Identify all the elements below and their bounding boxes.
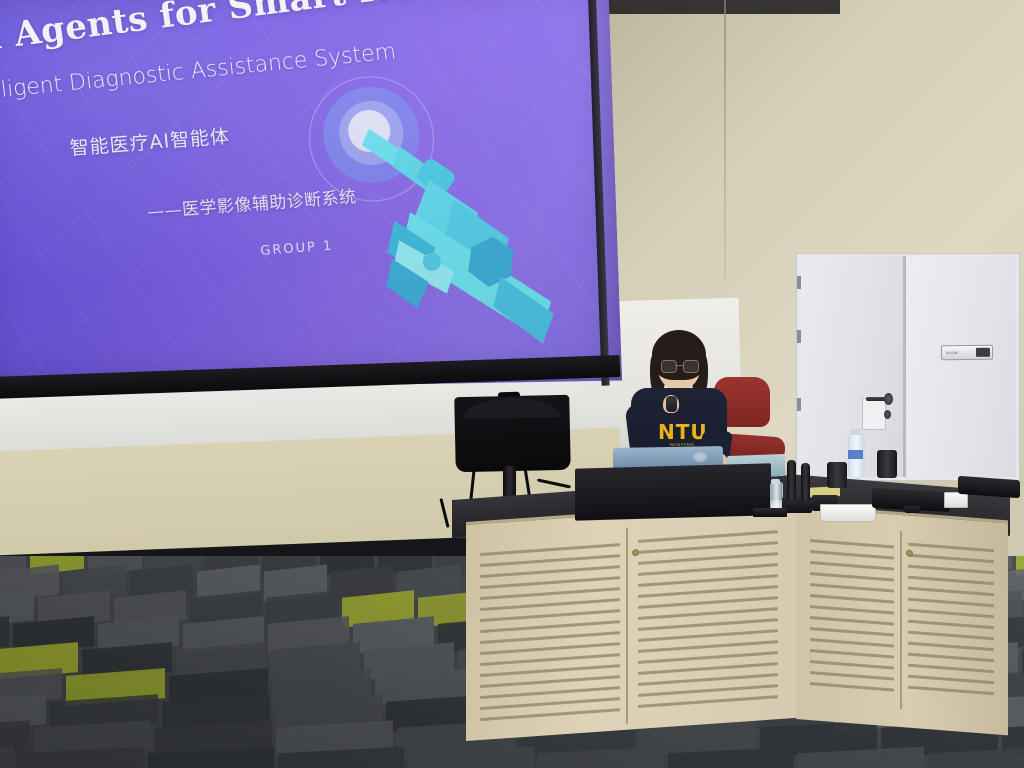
presentation-slide: AI Agents for Smart Healthcare: Intellig…	[0, 0, 622, 392]
louver-slat	[480, 686, 620, 699]
louver-slat	[908, 620, 994, 630]
louver-slat	[638, 640, 778, 653]
louver-slat	[480, 620, 620, 633]
louver-slat	[480, 576, 620, 589]
cabinet-lock-right-icon[interactable]	[906, 549, 913, 557]
white-equipment-box-2	[944, 492, 968, 508]
av-small-module	[904, 506, 920, 513]
louver-slat	[908, 554, 994, 564]
louver-slat	[810, 671, 894, 680]
wall-corner	[724, 0, 726, 280]
projection-screen: AI Agents for Smart Healthcare: Intellig…	[0, 0, 622, 392]
louver-slat	[638, 596, 778, 609]
louver-slat	[480, 554, 620, 567]
speaker-left	[827, 462, 847, 488]
presenter-glasses-icon	[661, 360, 697, 371]
slide-chinese-title: 智能医疗AI智能体	[68, 122, 231, 161]
louver-slat	[638, 552, 778, 565]
door-handle-rose-icon	[884, 393, 893, 405]
louver-slat	[638, 585, 778, 598]
door-nameplate: ROOM	[941, 345, 993, 361]
louver-slat	[810, 627, 894, 636]
louver-slat	[810, 605, 894, 614]
white-equipment-box-1	[820, 504, 876, 522]
louver-slat	[480, 697, 620, 710]
shirt-logo-text: NTU	[658, 420, 706, 444]
door-paper-notice	[862, 398, 886, 430]
louver-slat	[638, 695, 778, 708]
louver-slat	[908, 675, 994, 685]
podium-front-shield	[575, 463, 771, 520]
handheld-microphone-icon[interactable]	[666, 396, 677, 412]
door-sign-text: ROOM	[942, 350, 976, 354]
louver-slat	[810, 550, 894, 559]
louver-slat	[638, 563, 778, 576]
louver-slat	[638, 651, 778, 664]
door-sign-chip-icon	[976, 348, 990, 357]
door-hinge-mid-icon	[797, 330, 801, 343]
projection-screen-surface: AI Agents for Smart Healthcare: Intellig…	[0, 0, 622, 392]
louver-slat	[908, 576, 994, 586]
door-hinge-top-icon	[797, 276, 801, 289]
louver-panel-right-a	[810, 534, 894, 702]
louver-slat	[908, 642, 994, 652]
cable-tray	[753, 508, 787, 517]
louver-slat	[810, 583, 894, 592]
door-gap	[903, 256, 906, 477]
louver-slat	[810, 660, 894, 669]
louver-slat	[638, 530, 778, 543]
louver-panel-right-b	[908, 538, 994, 707]
louver-slat	[480, 631, 620, 644]
louver-slat	[810, 638, 894, 647]
louver-slat	[480, 675, 620, 688]
louver-slat	[810, 539, 894, 548]
louver-slat	[480, 642, 620, 655]
louver-slat	[810, 594, 894, 603]
louver-slat	[638, 618, 778, 631]
louver-slat	[810, 616, 894, 625]
louver-slat	[908, 631, 994, 641]
louver-slat	[638, 684, 778, 697]
louver-slat	[480, 609, 620, 622]
louver-slat	[810, 561, 894, 570]
louver-slat	[638, 673, 778, 686]
door-right-leaf[interactable]	[906, 256, 1016, 477]
louver-slat	[908, 609, 994, 619]
louver-slat	[638, 662, 778, 675]
louver-slat	[638, 607, 778, 620]
door-hinge-bottom-icon	[797, 398, 801, 411]
louver-panel-center	[638, 525, 778, 715]
louver-slat	[810, 572, 894, 581]
louver-slat	[908, 664, 994, 674]
louver-slat	[908, 565, 994, 575]
louver-slat	[480, 708, 620, 721]
louver-slat	[480, 543, 620, 556]
louver-slat	[638, 629, 778, 642]
podium-cabinet-left	[466, 499, 796, 741]
louver-slat	[908, 543, 994, 553]
louver-slat	[908, 686, 994, 696]
laptop-lid-sticker-icon	[693, 452, 707, 462]
louver-slat	[638, 541, 778, 554]
robotic-hand-icon	[297, 69, 587, 364]
louver-slat	[810, 649, 894, 658]
louver-slat	[480, 587, 620, 600]
louver-slat	[480, 653, 620, 666]
louver-panel-left	[480, 538, 620, 726]
wireless-microphone-1[interactable]	[787, 460, 796, 500]
louver-slat	[810, 682, 894, 691]
louver-slat	[638, 574, 778, 587]
podium-cabinet-right	[796, 504, 1008, 735]
wireless-microphone-2[interactable]	[801, 463, 810, 501]
louver-slat	[908, 653, 994, 663]
presenter-hair	[652, 330, 706, 380]
louver-slat	[480, 598, 620, 611]
lecture-room-photo: ROOM NTU NANYANG TECHNOLOGICAL UNIVERSIT…	[0, 0, 1024, 768]
louver-slat	[908, 587, 994, 597]
louver-slat	[480, 565, 620, 578]
door-lock-icon[interactable]	[884, 410, 891, 419]
louver-slat	[480, 664, 620, 677]
speaker-right	[877, 450, 897, 478]
louver-slat	[908, 598, 994, 608]
